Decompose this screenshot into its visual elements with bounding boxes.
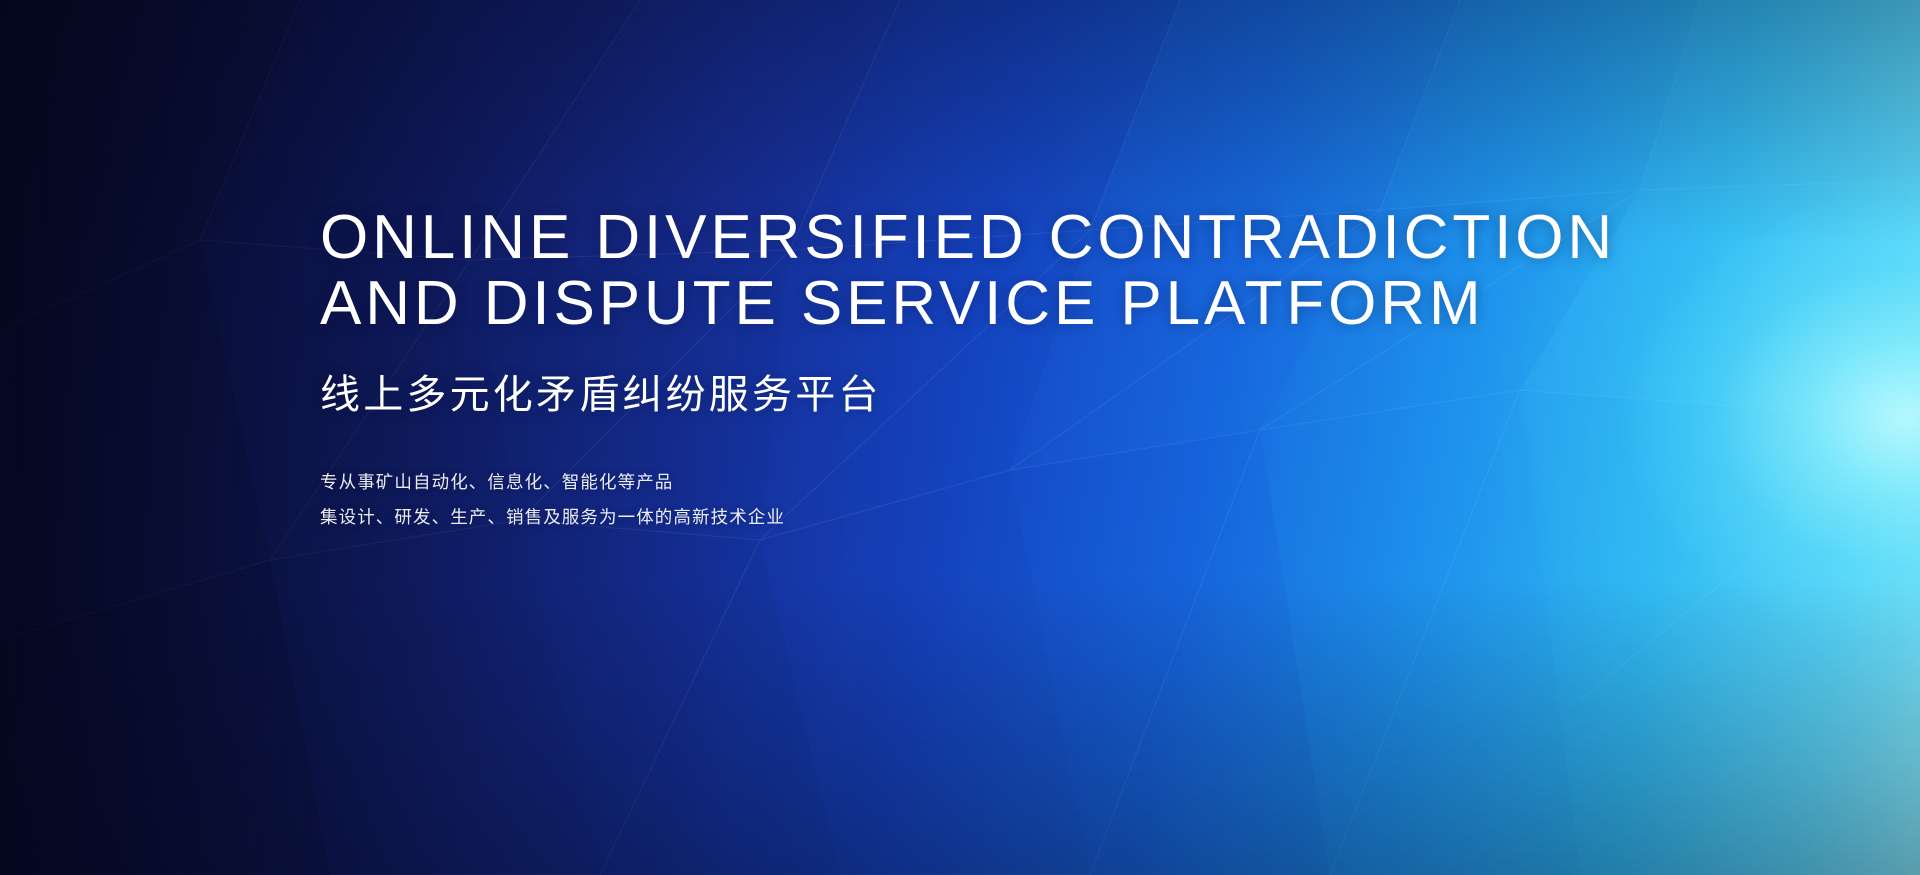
tagline-block: 专从事矿山自动化、信息化、智能化等产品 集设计、研发、生产、销售及服务为一体的高… — [320, 465, 1640, 536]
headline-line-2: AND DISPUTE SERVICE PLATFORM — [320, 271, 1640, 337]
tagline-line-2: 集设计、研发、生产、销售及服务为一体的高新技术企业 — [320, 500, 1640, 535]
hero-banner: ONLINE DIVERSIFIED CONTRADICTION AND DIS… — [0, 0, 1920, 875]
headline-chinese: 线上多元化矛盾纠纷服务平台 — [320, 371, 1640, 419]
hero-text-block: ONLINE DIVERSIFIED CONTRADICTION AND DIS… — [320, 205, 1640, 535]
tagline-line-1: 专从事矿山自动化、信息化、智能化等产品 — [320, 465, 1640, 500]
headline-line-1: ONLINE DIVERSIFIED CONTRADICTION — [320, 205, 1640, 271]
headline-english: ONLINE DIVERSIFIED CONTRADICTION AND DIS… — [320, 205, 1640, 338]
